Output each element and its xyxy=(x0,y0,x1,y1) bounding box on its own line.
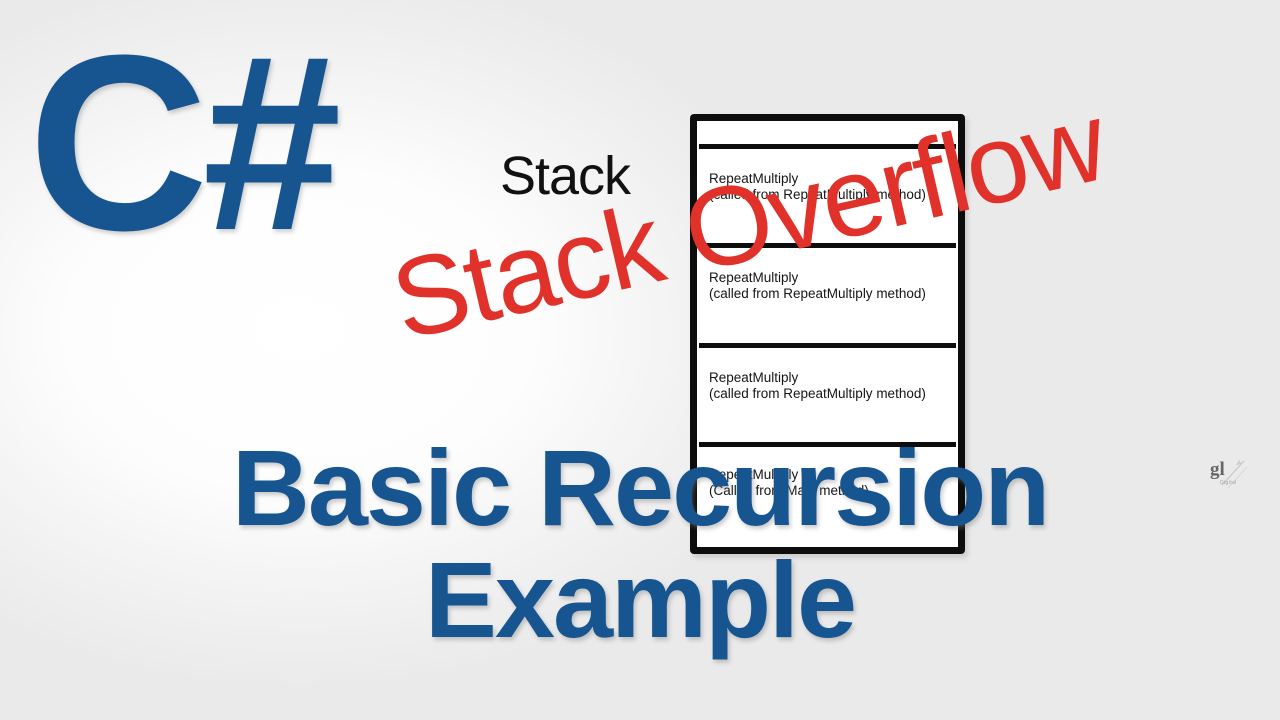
channel-watermark: gl Digital xyxy=(1206,458,1252,494)
page-title-line-2: Example xyxy=(0,544,1280,656)
stack-frame-3: RepeatMultiply (called from RepeatMultip… xyxy=(699,248,956,347)
page-title-line-1: Basic Recursion xyxy=(0,432,1280,544)
stack-frame-1-method: RepeatMultiply xyxy=(709,467,950,483)
stack-frame-4: RepeatMultiply (called from RepeatMultip… xyxy=(699,149,956,248)
watermark-mark: gl xyxy=(1210,460,1225,479)
stack-frame-2-method: RepeatMultiply xyxy=(709,370,950,386)
stack-frame-1: RepeatMultiply (Called from Main method) xyxy=(699,447,956,545)
stack-frame-4-caller: (called from RepeatMultiply method) xyxy=(709,187,950,203)
stack-frame-1-caller: (Called from Main method) xyxy=(709,483,950,499)
stack-frame-empty-top xyxy=(699,123,956,149)
stack-frame-4-method: RepeatMultiply xyxy=(709,171,950,187)
stack-caption-label: Stack xyxy=(500,145,630,207)
call-stack-diagram: RepeatMultiply (called from RepeatMultip… xyxy=(690,114,965,554)
stack-frame-3-method: RepeatMultiply xyxy=(709,270,950,286)
watermark-subtitle: Digital xyxy=(1220,480,1237,486)
stack-frame-2: RepeatMultiply (called from RepeatMultip… xyxy=(699,348,956,447)
page-title: Basic Recursion Example xyxy=(0,432,1280,656)
stack-frame-2-caller: (called from RepeatMultiply method) xyxy=(709,386,950,402)
stack-frame-3-caller: (called from RepeatMultiply method) xyxy=(709,286,950,302)
csharp-logo: C# xyxy=(28,18,336,268)
thumbnail-canvas: C# Stack RepeatMultiply (called from Rep… xyxy=(0,0,1280,720)
